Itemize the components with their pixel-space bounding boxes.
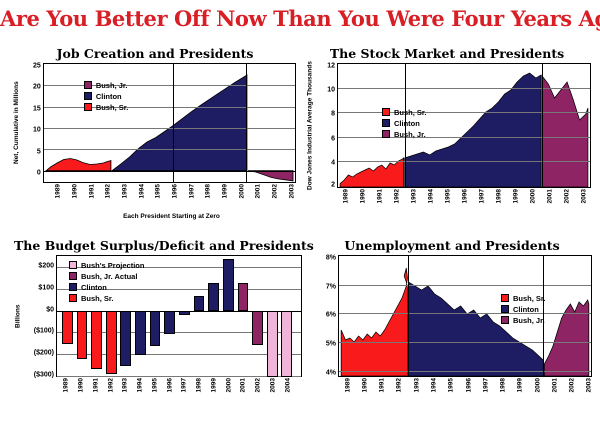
legend-item: Clinton	[501, 304, 546, 314]
gridline	[339, 371, 591, 372]
x-tick: 2004	[284, 378, 291, 392]
gridline	[339, 313, 591, 314]
unemployment-plot-area: Bush, Sr. Clinton Bush, Jr.	[338, 255, 592, 377]
job-creation-plot-area: Bush, Jr. Clinton Bush, Sr.	[43, 63, 296, 183]
stock-market-chart-body: Dow Jones Industrial Average Thousands 1…	[303, 63, 591, 188]
y-tick: 0	[37, 170, 41, 177]
x-tick: 2001	[240, 378, 247, 392]
president-divider	[408, 256, 409, 376]
area-bush-jr	[544, 300, 589, 376]
x-tick: 2002	[272, 184, 279, 198]
budget-bar-1991	[91, 311, 102, 370]
x-tick: 1994	[138, 184, 145, 198]
legend-item: Bush, Sr.	[382, 107, 427, 117]
legend-label: Bush, Sr.	[394, 108, 427, 117]
x-tick: 2002	[564, 189, 571, 203]
x-tick: 1998	[500, 378, 507, 392]
budget-bar-2000	[223, 259, 234, 311]
x-tick: 1990	[71, 184, 78, 198]
stock-market-area-svg	[338, 64, 590, 189]
chart-title-budget: The Budget Surplus/Deficit and President…	[14, 238, 302, 253]
y-tick: 6	[331, 135, 335, 142]
legend-item: Bush, Sr.	[84, 102, 129, 112]
unemployment-y-ticks: 8% 7% 6% 5% 4%	[312, 255, 338, 377]
y-tick: ($300)	[34, 372, 54, 379]
legend-swatch-bush-jr	[501, 316, 509, 324]
x-tick: 1996	[166, 378, 173, 392]
legend-swatch-clinton	[69, 283, 77, 291]
x-tick: 2003	[586, 378, 593, 392]
page-title: Are You Better Off Now Than You Were Fou…	[0, 6, 600, 31]
y-tick: 4	[331, 159, 335, 166]
budget-y-ticks: $200 $100 $0 ($100) ($200) ($300)	[24, 255, 56, 377]
job-creation-area-svg	[44, 64, 295, 184]
gridline	[338, 88, 590, 89]
x-tick: 1992	[394, 189, 401, 203]
legend-label: Clinton	[96, 92, 122, 101]
x-tick: 1989	[55, 184, 62, 198]
x-tick: 1991	[377, 189, 384, 203]
y-tick: 4%	[326, 369, 336, 376]
x-tick: 1989	[63, 378, 70, 392]
x-tick: 1994	[428, 189, 435, 203]
gridline	[44, 149, 295, 150]
x-tick: 1995	[448, 378, 455, 392]
legend-item: Bush, Jr.	[382, 129, 427, 139]
job-creation-x-ticks: 1989 1990 1991 1992 1993 1994 1995 1996 …	[47, 183, 296, 213]
x-tick: 1995	[155, 184, 162, 198]
y-tick: ($100)	[34, 328, 54, 335]
x-tick: 1999	[222, 184, 229, 198]
x-tick: 1992	[396, 378, 403, 392]
budget-bar-2001	[238, 283, 249, 311]
budget-bar-2004	[281, 311, 292, 378]
x-tick: 2001	[551, 378, 558, 392]
x-tick: 2002	[569, 378, 576, 392]
gridline	[338, 161, 590, 162]
unemployment-legend: Bush, Sr. Clinton Bush, Jr.	[501, 293, 546, 326]
legend-label: Clinton	[394, 119, 420, 128]
job-creation-legend: Bush, Jr. Clinton Bush, Sr.	[84, 80, 129, 113]
y-tick: 6%	[326, 312, 336, 319]
y-tick: ($200)	[34, 350, 54, 357]
legend-swatch-bush-sr	[69, 294, 77, 302]
legend-swatch-bush-sr	[382, 108, 390, 116]
budget-bar-1998	[194, 296, 205, 311]
legend-swatch-bush-sr	[501, 294, 509, 302]
area-bush-jr	[542, 76, 588, 187]
legend-swatch-bush-sr	[84, 103, 92, 111]
budget-bar-1995	[150, 311, 161, 347]
x-tick: 1989	[344, 378, 351, 392]
x-tick: 2000	[530, 189, 537, 203]
stock-market-x-ticks: 1989 1990 1991 1992 1993 1994 1995 1996 …	[337, 188, 591, 218]
area-bush-sr	[46, 159, 111, 171]
x-tick: 1999	[210, 378, 217, 392]
x-tick: 1994	[137, 378, 144, 392]
legend-swatch-bush-jr	[84, 81, 92, 89]
budget-chart-body: Billions $200 $100 $0 ($100) ($200) ($30…	[14, 255, 302, 377]
x-tick: 1992	[105, 184, 112, 198]
chart-title-unemployment: Unemployment and Presidents	[312, 238, 592, 253]
job-creation-y-ticks: 25 20 15 10 5 0	[21, 63, 43, 183]
x-tick: 1992	[107, 378, 114, 392]
x-tick: 1989	[343, 189, 350, 203]
x-tick: 1999	[513, 189, 520, 203]
unemployment-x-ticks: 1989 1990 1991 1992 1993 1994 1995 1996 …	[338, 377, 592, 407]
gridline	[338, 137, 590, 138]
unemployment-area-svg	[339, 256, 591, 378]
gridline	[338, 112, 590, 113]
y-tick: 15	[33, 105, 41, 112]
chart-panel-unemployment: Unemployment and Presidents 8% 7% 6% 5% …	[312, 238, 592, 407]
x-tick: 1991	[92, 378, 99, 392]
x-tick: 1994	[431, 378, 438, 392]
gridline	[339, 285, 591, 286]
legend-swatch-clinton	[501, 305, 509, 313]
legend-item: Clinton	[84, 91, 129, 101]
job-creation-x-axis-label: Each President Starting at Zero	[47, 213, 296, 220]
budget-bar-1997	[179, 311, 190, 316]
y-tick: 2	[331, 182, 335, 189]
zero-line	[44, 171, 295, 172]
president-divider	[246, 64, 247, 182]
budget-bar-2002	[252, 311, 263, 345]
legend-item: Bush, Jr. Actual	[69, 271, 144, 281]
x-tick: 1995	[151, 378, 158, 392]
x-tick: 1998	[196, 378, 203, 392]
legend-swatch-clinton	[382, 119, 390, 127]
gridline	[339, 342, 591, 343]
legend-label: Bush, Sr.	[513, 294, 546, 303]
y-tick: 25	[33, 63, 41, 70]
x-tick: 2002	[255, 378, 262, 392]
y-tick: 5	[37, 148, 41, 155]
x-tick: 1998	[496, 189, 503, 203]
x-tick: 2003	[288, 184, 295, 198]
x-tick: 1996	[465, 378, 472, 392]
x-tick: 2000	[225, 378, 232, 392]
x-tick: 2003	[581, 189, 588, 203]
y-tick: $100	[38, 284, 54, 291]
legend-swatch-clinton	[84, 92, 92, 100]
x-tick: 1997	[181, 378, 188, 392]
legend-label: Bush, Jr. Actual	[81, 272, 137, 281]
chart-title-stock-market: The Stock Market and Presidents	[303, 46, 591, 61]
x-tick: 1990	[361, 378, 368, 392]
y-tick: 5%	[326, 341, 336, 348]
x-tick: 1996	[171, 184, 178, 198]
stock-market-legend: Bush, Sr. Clinton Bush, Jr.	[382, 107, 427, 140]
gridline	[44, 128, 295, 129]
budget-bar-1992	[106, 311, 117, 374]
budget-legend: Bush's Projection Bush, Jr. Actual Clint…	[69, 260, 144, 304]
y-tick: 8	[331, 111, 335, 118]
budget-bar-1993	[120, 311, 131, 367]
chart-panel-budget: The Budget Surplus/Deficit and President…	[14, 238, 302, 407]
legend-swatch-bush-jr	[382, 130, 390, 138]
y-tick: 8%	[326, 255, 336, 262]
area-bush-sr	[340, 158, 404, 187]
legend-label: Clinton	[513, 305, 539, 314]
budget-bar-1990	[77, 311, 88, 359]
stock-market-y-axis-label: Dow Jones Industrial Average Thousands	[303, 63, 319, 188]
president-divider	[542, 64, 543, 187]
budget-bar-1996	[164, 311, 175, 334]
legend-label: Bush's Projection	[81, 261, 144, 270]
x-tick: 2001	[547, 189, 554, 203]
legend-label: Bush, Jr.	[513, 316, 545, 325]
x-tick: 2001	[255, 184, 262, 198]
legend-item: Clinton	[382, 118, 427, 128]
legend-label: Bush, Jr.	[394, 130, 426, 139]
chart-panel-stock-market: The Stock Market and Presidents Dow Jone…	[303, 46, 591, 218]
x-tick: 1993	[413, 378, 420, 392]
legend-label: Bush, Sr.	[81, 294, 114, 303]
x-tick: 1997	[482, 378, 489, 392]
gridline	[44, 107, 295, 108]
legend-item: Bush, Jr.	[501, 315, 546, 325]
x-tick: 1997	[479, 189, 486, 203]
gridline	[44, 85, 295, 86]
budget-y-axis-label: Billions	[14, 255, 24, 377]
x-tick: 1991	[379, 378, 386, 392]
x-tick: 1990	[360, 189, 367, 203]
legend-swatch-bush-projection	[69, 261, 77, 269]
x-tick: 2003	[269, 378, 276, 392]
stock-market-y-ticks: 12 10 8 6 4 2	[319, 63, 337, 188]
legend-label: Bush, Jr.	[96, 81, 128, 90]
y-tick: $200	[38, 263, 54, 270]
x-tick: 1990	[78, 378, 85, 392]
area-clinton	[112, 75, 247, 171]
legend-item: Bush, Jr.	[84, 80, 129, 90]
y-tick: $0	[46, 306, 54, 313]
legend-swatch-bush-jr-actual	[69, 272, 77, 280]
chart-panel-job-creation: Job Creation and Presidents Net, Cumulat…	[14, 46, 296, 220]
x-tick: 1993	[121, 184, 128, 198]
legend-item: Bush, Sr.	[69, 293, 144, 303]
budget-bar-1989	[62, 311, 73, 344]
legend-label: Clinton	[81, 283, 107, 292]
x-tick: 1999	[517, 378, 524, 392]
chart-title-job-creation: Job Creation and Presidents	[14, 46, 296, 61]
budget-x-ticks: 1989 1990 1991 1992 1993 1994 1995 1996 …	[56, 377, 302, 407]
x-tick: 1991	[88, 184, 95, 198]
job-creation-y-axis-label: Net, Cumulative in Millions	[14, 63, 21, 183]
legend-item: Bush, Sr.	[501, 293, 546, 303]
unemployment-chart-body: 8% 7% 6% 5% 4% Bush, Sr.	[312, 255, 592, 377]
y-tick: 10	[327, 87, 335, 94]
stock-market-plot-area: Bush, Sr. Clinton Bush, Jr.	[337, 63, 591, 188]
y-tick: 10	[33, 127, 41, 134]
x-tick: 1996	[462, 189, 469, 203]
x-tick: 1995	[445, 189, 452, 203]
x-tick: 1993	[411, 189, 418, 203]
y-tick: 12	[327, 63, 335, 70]
x-tick: 2000	[238, 184, 245, 198]
y-tick: 7%	[326, 283, 336, 290]
legend-label: Bush, Sr.	[96, 103, 129, 112]
job-creation-chart-body: Net, Cumulative in Millions 25 20 15 10 …	[14, 63, 296, 183]
budget-bar-1999	[208, 283, 219, 310]
budget-bar-1994	[135, 311, 146, 355]
x-tick: 1998	[205, 184, 212, 198]
x-tick: 1993	[122, 378, 129, 392]
y-tick: 20	[33, 84, 41, 91]
x-tick: 2000	[534, 378, 541, 392]
area-bush-jr	[248, 171, 293, 181]
legend-item: Bush's Projection	[69, 260, 144, 270]
president-divider	[173, 64, 174, 182]
x-tick: 1997	[188, 184, 195, 198]
legend-item: Clinton	[69, 282, 144, 292]
budget-bar-2003	[267, 311, 278, 377]
budget-plot-area: Bush's Projection Bush, Jr. Actual Clint…	[56, 255, 302, 377]
